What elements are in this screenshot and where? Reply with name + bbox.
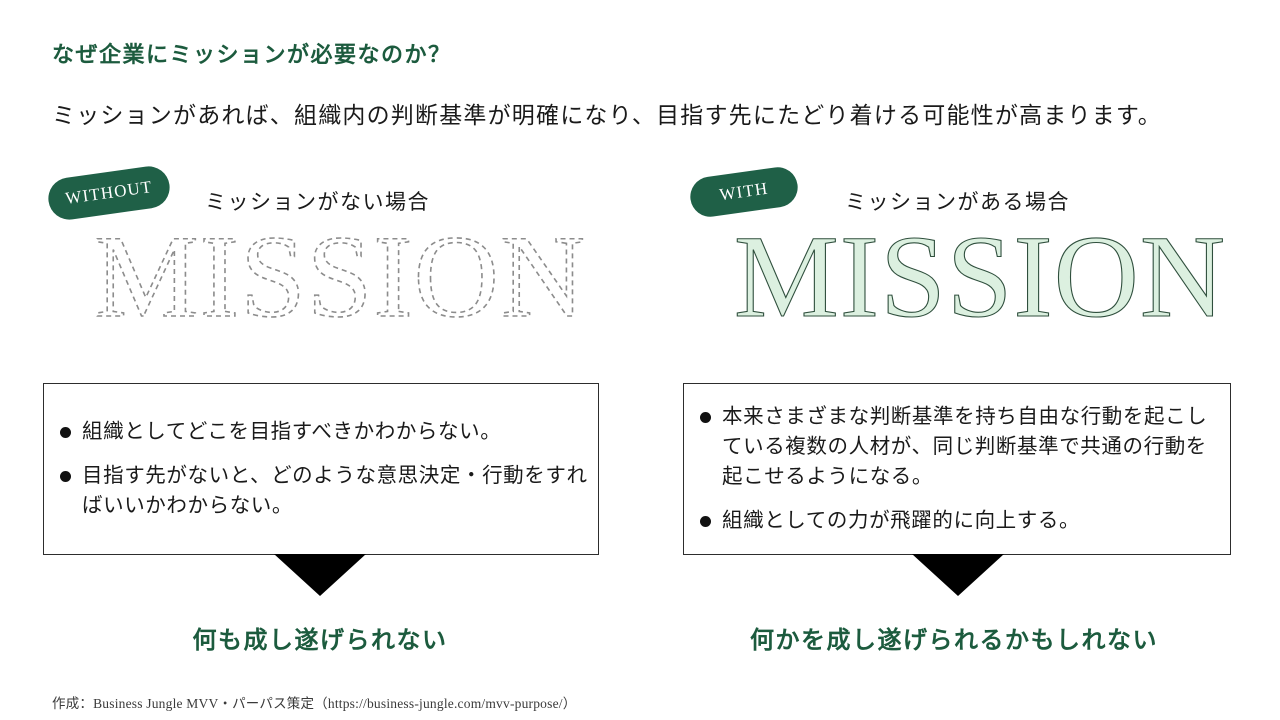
bullet-list-with: 本来さまざまな判断基準を持ち自由な行動を起こしている複数の人材が、同じ判断基準で… [700,402,1220,536]
bullet-list-without: 組織としてどこを目指すべきかわからない。 目指す先がないと、どのような意思決定・… [60,417,588,521]
list-item: 本来さまざまな判断基準を持ち自由な行動を起こしている複数の人材が、同じ判断基準で… [700,402,1220,492]
bullet-text: 組織としての力が飛躍的に向上する。 [722,506,1220,536]
bullet-text: 組織としてどこを目指すべきかわからない。 [82,417,588,447]
bullet-dot-icon [700,412,711,423]
conclusion-with: 何かを成し遂げられるかもしれない [674,620,1234,655]
column-with: WITH ミッションがある場合 MISSION 本来さまざまな判断基準を持ち自由… [680,150,1280,670]
bullet-box-without: 組織としてどこを目指すべきかわからない。 目指す先がないと、どのような意思決定・… [43,383,599,555]
footer-credit: 作成：Business Jungle MVV・パーパス策定（https://bu… [52,692,576,712]
conclusion-without: 何も成し遂げられない [40,620,600,655]
mission-word-without: MISSION [40,218,640,333]
list-item: 目指す先がないと、どのような意思決定・行動をすればいいかわからない。 [60,461,588,521]
list-item: 組織としての力が飛躍的に向上する。 [700,506,1220,536]
badge-without: WITHOUT [46,164,173,223]
page-title: なぜ企業にミッションが必要なのか？ [52,37,452,69]
svg-text:MISSION: MISSION [94,218,586,338]
column-heading-with: ミッションがある場合 [845,186,1070,216]
column-without: WITHOUT ミッションがない場合 MISSION 組織としてどこを目指すべき… [40,150,640,670]
bullet-box-with: 本来さまざまな判断基準を持ち自由な行動を起こしている複数の人材が、同じ判断基準で… [683,383,1231,555]
arrow-down-icon-with [912,554,1004,596]
bullet-dot-icon [60,471,71,482]
badge-row-with: WITH ミッションがある場合 [680,162,1280,222]
mission-word-with: MISSION [680,218,1280,333]
badge-row-without: WITHOUT ミッションがない場合 [40,162,640,222]
bullet-dot-icon [700,516,711,527]
mission-outline-filled-icon: MISSION [680,218,1280,338]
arrow-down-icon-without [274,554,366,596]
bullet-text: 本来さまざまな判断基準を持ち自由な行動を起こしている複数の人材が、同じ判断基準で… [722,402,1220,492]
bullet-text: 目指す先がないと、どのような意思決定・行動をすればいいかわからない。 [82,461,588,521]
badge-with: WITH [688,165,801,220]
slide-canvas: なぜ企業にミッションが必要なのか？ ミッションがあれば、組織内の判断基準が明確に… [0,0,1280,720]
page-lead: ミッションがあれば、組織内の判断基準が明確になり、目指す先にたどり着ける可能性が… [52,96,1162,130]
svg-text:MISSION: MISSION [734,218,1226,338]
column-heading-without: ミッションがない場合 [205,186,430,216]
list-item: 組織としてどこを目指すべきかわからない。 [60,417,588,447]
bullet-dot-icon [60,427,71,438]
mission-outline-dashed-icon: MISSION [40,218,640,338]
